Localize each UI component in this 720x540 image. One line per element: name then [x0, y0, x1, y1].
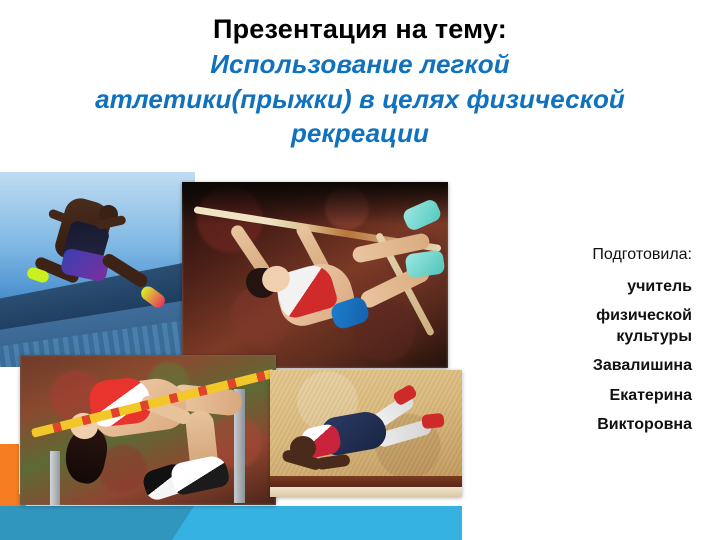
page-title: Презентация на тему:	[40, 14, 680, 46]
author-line-1: учитель	[510, 277, 692, 297]
pit-edge	[270, 487, 462, 497]
author-line-5: Екатерина	[510, 386, 692, 406]
author-block: Подготовила: учитель физической культуры…	[510, 247, 692, 436]
title-block: Презентация на тему: Использование легко…	[40, 14, 680, 150]
subtitle-line-1: Использование легкой	[40, 49, 680, 81]
author-role-label: Подготовила:	[510, 247, 692, 263]
author-line-4: Завалишина	[510, 356, 692, 376]
author-line-3: культуры	[510, 327, 692, 347]
jumper-shoe-lower	[421, 413, 444, 429]
long-jump-sand-photo	[270, 370, 462, 497]
pit-rail	[270, 476, 462, 487]
triple-jump-sky-photo	[0, 172, 195, 367]
author-line-2: физической	[510, 306, 692, 326]
high-jump-photo	[20, 355, 276, 505]
high-jump-upright-left	[50, 451, 60, 505]
subtitle-line-2: атлетики(прыжки) в целях физической	[40, 84, 680, 116]
subtitle-line-3: рекреации	[40, 118, 680, 150]
presentation-slide: Презентация на тему: Использование легко…	[0, 0, 720, 540]
teal-footer-band	[0, 506, 172, 540]
author-line-6: Викторовна	[510, 415, 692, 435]
pole-vault-photo	[182, 182, 448, 368]
